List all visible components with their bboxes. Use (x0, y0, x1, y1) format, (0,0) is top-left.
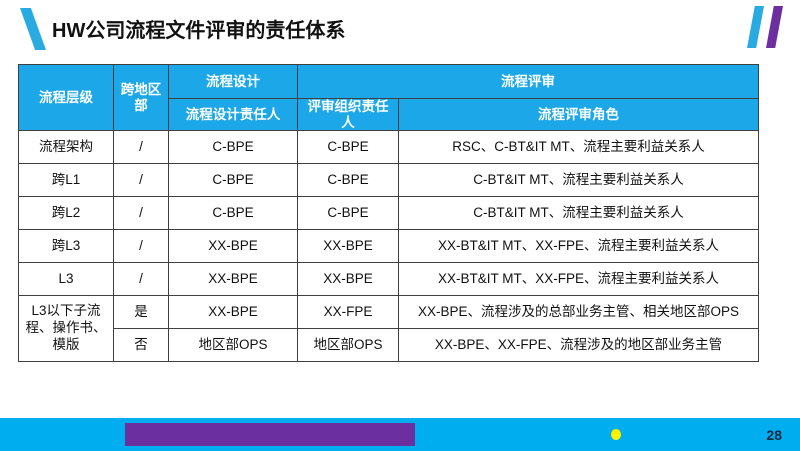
cell-level: 跨L1 (19, 164, 114, 197)
table-row: 跨L2 / C-BPE C-BPE C-BT&IT MT、流程主要利益关系人 (19, 197, 759, 230)
table-row: 否 地区部OPS 地区部OPS XX-BPE、XX-FPE、流程涉及的地区部业务… (19, 329, 759, 362)
page-number: 28 (766, 427, 782, 443)
footer-purple-block (125, 423, 415, 446)
cell-level: L3 (19, 263, 114, 296)
cell-cross-region: 是 (114, 296, 169, 329)
title-slash-icon (20, 8, 46, 50)
col-group-header-design: 流程设计 (169, 65, 298, 99)
footer-dot-icon (611, 429, 621, 440)
cell-design-owner: 地区部OPS (169, 329, 298, 362)
table-row: L3 / XX-BPE XX-BPE XX-BT&IT MT、XX-FPE、流程… (19, 263, 759, 296)
cell-review-org-owner: XX-BPE (298, 263, 399, 296)
cell-level-merged: L3以下子流程、操作书、模版 (19, 296, 114, 362)
cell-level: 跨L3 (19, 230, 114, 263)
table-row: 跨L3 / XX-BPE XX-BPE XX-BT&IT MT、XX-FPE、流… (19, 230, 759, 263)
table-header-row-1: 流程层级 跨地区部 流程设计 流程评审 (19, 65, 759, 99)
cell-cross-region: / (114, 197, 169, 230)
cell-design-owner: XX-BPE (169, 263, 298, 296)
cell-review-role: XX-BPE、XX-FPE、流程涉及的地区部业务主管 (399, 329, 759, 362)
cell-review-role: C-BT&IT MT、流程主要利益关系人 (399, 197, 759, 230)
cell-review-role: RSC、C-BT&IT MT、流程主要利益关系人 (399, 131, 759, 164)
page-title: HW公司流程文件评审的责任体系 (52, 14, 345, 43)
cell-level: 流程架构 (19, 131, 114, 164)
corner-purple-slash-icon (766, 6, 783, 48)
cell-cross-region: / (114, 263, 169, 296)
table-row: L3以下子流程、操作书、模版 是 XX-BPE XX-FPE XX-BPE、流程… (19, 296, 759, 329)
cell-level: 跨L2 (19, 197, 114, 230)
cell-design-owner: C-BPE (169, 164, 298, 197)
col-header-design-owner: 流程设计责任人 (169, 99, 298, 131)
cell-cross-region: / (114, 131, 169, 164)
responsibility-table: 流程层级 跨地区部 流程设计 流程评审 流程设计责任人 评审组织责任人 流程评审… (18, 64, 759, 362)
corner-cyan-slash-icon (747, 6, 764, 48)
cell-review-org-owner: XX-FPE (298, 296, 399, 329)
cell-review-role: XX-BT&IT MT、XX-FPE、流程主要利益关系人 (399, 230, 759, 263)
cell-design-owner: XX-BPE (169, 230, 298, 263)
cell-review-role: XX-BT&IT MT、XX-FPE、流程主要利益关系人 (399, 263, 759, 296)
cell-design-owner: XX-BPE (169, 296, 298, 329)
responsibility-table-wrapper: 流程层级 跨地区部 流程设计 流程评审 流程设计责任人 评审组织责任人 流程评审… (18, 64, 758, 362)
cell-review-org-owner: C-BPE (298, 164, 399, 197)
col-header-level: 流程层级 (19, 65, 114, 131)
table-body: 流程架构 / C-BPE C-BPE RSC、C-BT&IT MT、流程主要利益… (19, 131, 759, 362)
slide-footer-bar: 28 (0, 418, 800, 451)
cell-review-role: XX-BPE、流程涉及的总部业务主管、相关地区部OPS (399, 296, 759, 329)
cell-review-org-owner: 地区部OPS (298, 329, 399, 362)
cell-review-role: C-BT&IT MT、流程主要利益关系人 (399, 164, 759, 197)
col-group-header-review: 流程评审 (298, 65, 759, 99)
cell-review-org-owner: C-BPE (298, 131, 399, 164)
cell-review-org-owner: C-BPE (298, 197, 399, 230)
cell-design-owner: C-BPE (169, 131, 298, 164)
col-header-review-org-owner: 评审组织责任人 (298, 99, 399, 131)
col-header-cross-region: 跨地区部 (114, 65, 169, 131)
slide-title-bar: HW公司流程文件评审的责任体系 (0, 0, 800, 56)
table-row: 跨L1 / C-BPE C-BPE C-BT&IT MT、流程主要利益关系人 (19, 164, 759, 197)
col-header-review-role: 流程评审角色 (399, 99, 759, 131)
table-row: 流程架构 / C-BPE C-BPE RSC、C-BT&IT MT、流程主要利益… (19, 131, 759, 164)
corner-decoration (746, 6, 790, 48)
table-header: 流程层级 跨地区部 流程设计 流程评审 流程设计责任人 评审组织责任人 流程评审… (19, 65, 759, 131)
cell-cross-region: 否 (114, 329, 169, 362)
cell-cross-region: / (114, 164, 169, 197)
slide-root: HW公司流程文件评审的责任体系 流程层级 跨地区部 流程设计 流程评审 (0, 0, 800, 451)
cell-review-org-owner: XX-BPE (298, 230, 399, 263)
cell-design-owner: C-BPE (169, 197, 298, 230)
cell-cross-region: / (114, 230, 169, 263)
